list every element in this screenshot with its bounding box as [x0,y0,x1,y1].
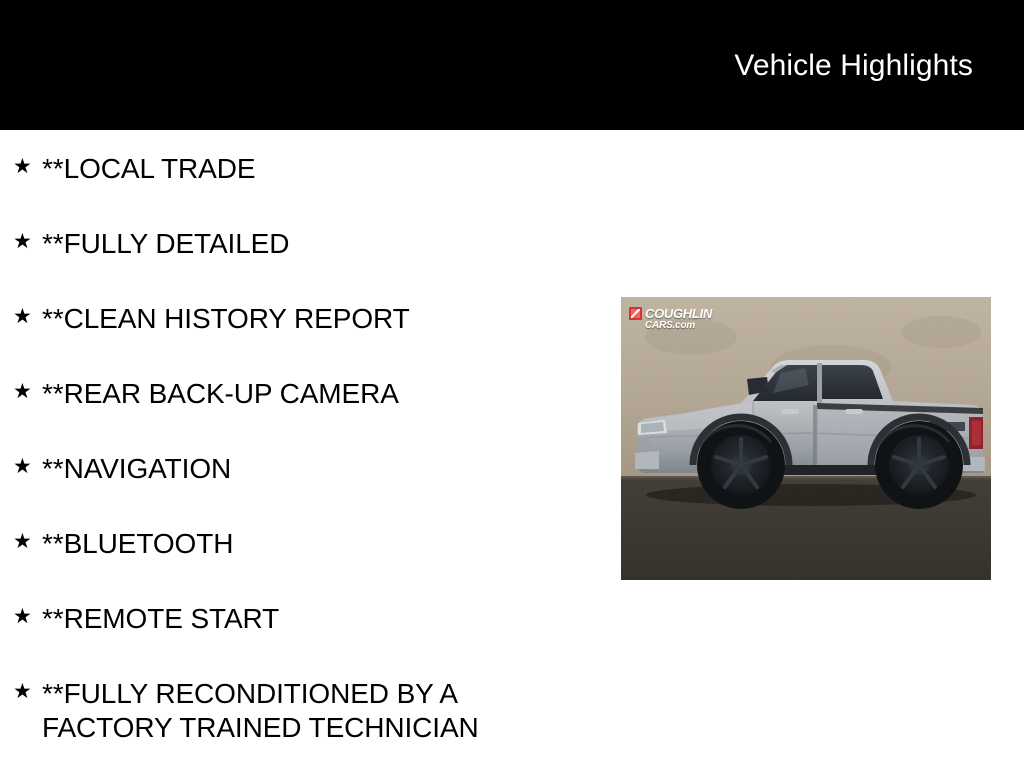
star-icon: ★ [13,531,32,552]
star-icon: ★ [13,456,32,477]
list-item: ★ **LOCAL TRADE [0,130,600,205]
list-item: ★ **BLUETOOTH [0,505,600,580]
list-item: ★ **REAR BACK-UP CAMERA [0,355,600,430]
list-item-label: **NAVIGATION [42,430,600,486]
list-item-label: **FULLY DETAILED [42,205,600,261]
page-title: Vehicle Highlights [734,48,973,84]
list-item-label: **REAR BACK-UP CAMERA [42,355,600,411]
list-item: ★ **REMOTE START [0,580,600,655]
vehicle-photo: COUGHLIN CARS.com [621,297,991,580]
star-icon: ★ [13,381,32,402]
list-item-label: **LOCAL TRADE [42,130,600,186]
list-item-label: **REMOTE START [42,580,600,636]
list-item-label: **FULLY RECONDITIONED BY A FACTORY TRAIN… [42,655,600,745]
vehicle-photo-image [621,297,991,580]
list-item-label: **BLUETOOTH [42,505,600,561]
list-item: ★ **NAVIGATION [0,430,600,505]
star-icon: ★ [13,681,32,702]
list-item-label: **CLEAN HISTORY REPORT [42,280,600,336]
list-item: ★ **FULLY RECONDITIONED BY A FACTORY TRA… [0,655,600,745]
vehicle-highlights-list: ★ **LOCAL TRADE ★ **FULLY DETAILED ★ **C… [0,130,600,745]
header-bar: Vehicle Highlights [0,0,1024,130]
list-item: ★ **CLEAN HISTORY REPORT [0,280,600,355]
list-item: ★ **FULLY DETAILED [0,205,600,280]
star-icon: ★ [13,231,32,252]
star-icon: ★ [13,156,32,177]
star-icon: ★ [13,306,32,327]
star-icon: ★ [13,606,32,627]
